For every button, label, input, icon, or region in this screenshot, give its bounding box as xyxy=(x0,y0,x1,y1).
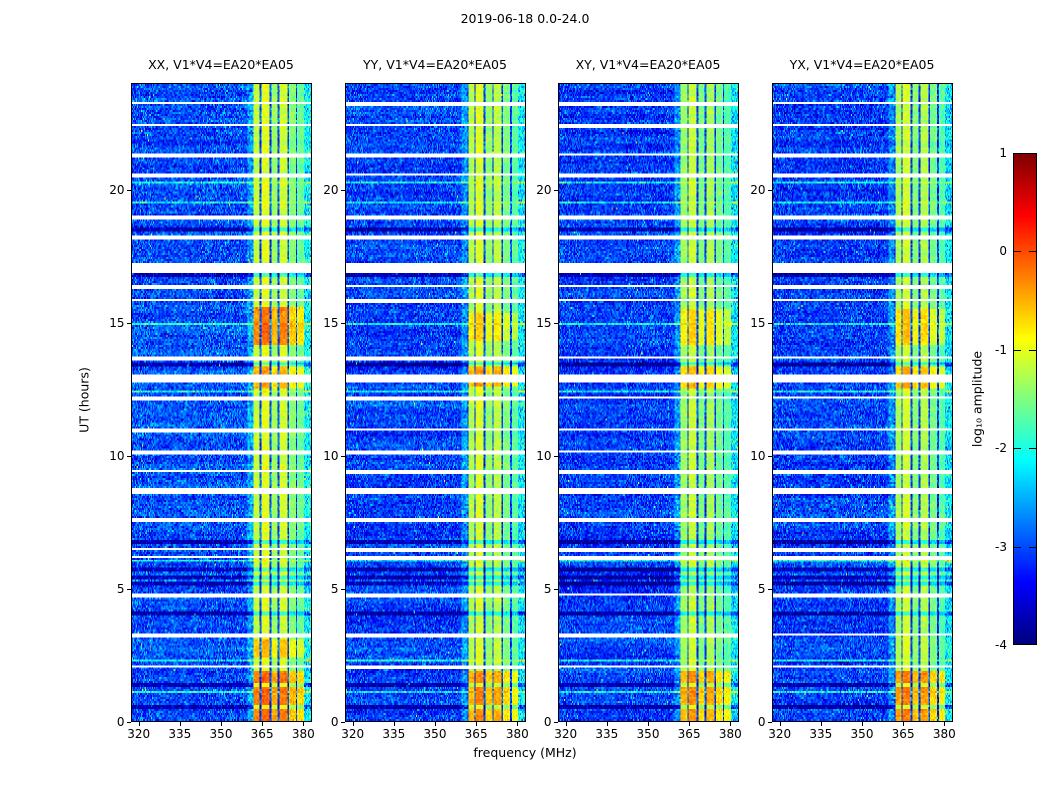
y-axis-tick-label: 0 xyxy=(528,715,552,729)
y-axis-label: UT (hours) xyxy=(77,367,92,433)
spectrogram-panel-xx[interactable] xyxy=(131,83,312,722)
x-axis-tick-mark xyxy=(821,722,822,726)
x-axis-tick-label: 380 xyxy=(506,727,529,741)
y-axis-tick-label: 15 xyxy=(742,316,766,330)
y-axis-tick-mark xyxy=(341,589,345,590)
y-axis-tick-label: 20 xyxy=(101,183,125,197)
x-axis-tick-mark xyxy=(780,722,781,726)
colorbar-tick-label: 1 xyxy=(985,146,1007,160)
y-axis-tick-mark xyxy=(768,323,772,324)
colorbar-tick-mark xyxy=(1013,251,1021,252)
y-axis-tick-label: 20 xyxy=(315,183,339,197)
colorbar-gradient xyxy=(1014,154,1036,644)
y-axis-tick-mark xyxy=(554,589,558,590)
x-axis-tick-mark xyxy=(566,722,567,726)
x-axis-tick-mark xyxy=(139,722,140,726)
x-axis-tick-mark xyxy=(476,722,477,726)
x-axis-tick-mark xyxy=(517,722,518,726)
y-axis-tick-label: 15 xyxy=(101,316,125,330)
x-axis-tick-mark xyxy=(394,722,395,726)
y-axis-tick-mark xyxy=(341,323,345,324)
x-axis-tick-label: 380 xyxy=(292,727,315,741)
y-axis-tick-mark xyxy=(554,456,558,457)
x-axis-tick-mark xyxy=(903,722,904,726)
colorbar-tick-mark xyxy=(1029,350,1037,351)
y-axis-tick-label: 5 xyxy=(742,582,766,596)
figure-canvas: 2019-06-18 0.0-24.0 UT (hours) frequency… xyxy=(0,0,1050,800)
colorbar-tick-label: 0 xyxy=(985,244,1007,258)
x-axis-tick-label: 320 xyxy=(554,727,577,741)
x-axis-tick-label: 320 xyxy=(341,727,364,741)
x-axis-tick-mark xyxy=(303,722,304,726)
spectrogram-panel-xy[interactable] xyxy=(558,83,739,722)
y-axis-tick-mark xyxy=(341,722,345,723)
y-axis-tick-label: 15 xyxy=(315,316,339,330)
x-axis-tick-label: 335 xyxy=(809,727,832,741)
colorbar-tick-label: -4 xyxy=(985,638,1007,652)
colorbar xyxy=(1013,153,1037,645)
colorbar-tick-label: -3 xyxy=(985,540,1007,554)
y-axis-tick-mark xyxy=(127,722,131,723)
x-axis-tick-mark xyxy=(862,722,863,726)
x-axis-tick-label: 350 xyxy=(851,727,874,741)
x-axis-tick-label: 320 xyxy=(127,727,150,741)
x-axis-tick-mark xyxy=(730,722,731,726)
figure-suptitle: 2019-06-18 0.0-24.0 xyxy=(0,11,1050,26)
y-axis-tick-mark xyxy=(768,589,772,590)
y-axis-tick-label: 0 xyxy=(101,715,125,729)
x-axis-tick-label: 335 xyxy=(168,727,191,741)
y-axis-tick-label: 20 xyxy=(742,183,766,197)
panel-title-xy: XY, V1*V4=EA20*EA05 xyxy=(558,57,739,72)
y-axis-tick-mark xyxy=(768,190,772,191)
x-axis-tick-label: 380 xyxy=(933,727,956,741)
y-axis-tick-label: 10 xyxy=(742,449,766,463)
y-axis-tick-label: 5 xyxy=(528,582,552,596)
panel-title-yx: YX, V1*V4=EA20*EA05 xyxy=(772,57,953,72)
x-axis-tick-mark xyxy=(689,722,690,726)
y-axis-tick-label: 10 xyxy=(101,449,125,463)
y-axis-tick-mark xyxy=(341,456,345,457)
x-axis-tick-label: 365 xyxy=(465,727,488,741)
y-axis-tick-mark xyxy=(127,589,131,590)
spectrogram-panel-yy[interactable] xyxy=(345,83,526,722)
colorbar-tick-mark xyxy=(1013,350,1021,351)
colorbar-tick-mark xyxy=(1013,448,1021,449)
panel-title-yy: YY, V1*V4=EA20*EA05 xyxy=(345,57,526,72)
y-axis-tick-label: 10 xyxy=(315,449,339,463)
x-axis-tick-mark xyxy=(262,722,263,726)
x-axis-tick-label: 350 xyxy=(637,727,660,741)
x-axis-tick-mark xyxy=(648,722,649,726)
x-axis-tick-mark xyxy=(353,722,354,726)
colorbar-tick-label: -2 xyxy=(985,441,1007,455)
colorbar-tick-mark xyxy=(1013,547,1021,548)
y-axis-tick-mark xyxy=(554,190,558,191)
x-axis-tick-mark xyxy=(221,722,222,726)
x-axis-tick-label: 335 xyxy=(382,727,405,741)
y-axis-tick-label: 0 xyxy=(742,715,766,729)
y-axis-tick-label: 20 xyxy=(528,183,552,197)
colorbar-tick-mark xyxy=(1029,547,1037,548)
x-axis-tick-label: 365 xyxy=(251,727,274,741)
y-axis-tick-mark xyxy=(554,722,558,723)
y-axis-tick-label: 5 xyxy=(101,582,125,596)
colorbar-label: log₁₀ amplitude xyxy=(970,351,985,447)
y-axis-tick-mark xyxy=(768,456,772,457)
x-axis-tick-mark xyxy=(180,722,181,726)
colorbar-tick-mark xyxy=(1029,251,1037,252)
y-axis-tick-label: 5 xyxy=(315,582,339,596)
x-axis-tick-label: 365 xyxy=(678,727,701,741)
y-axis-tick-mark xyxy=(127,323,131,324)
panel-title-xx: XX, V1*V4=EA20*EA05 xyxy=(131,57,312,72)
spectrogram-image xyxy=(559,84,738,721)
y-axis-tick-mark xyxy=(127,190,131,191)
x-axis-tick-label: 380 xyxy=(719,727,742,741)
spectrogram-panel-yx[interactable] xyxy=(772,83,953,722)
colorbar-tick-label: -1 xyxy=(985,343,1007,357)
y-axis-tick-mark xyxy=(341,190,345,191)
x-axis-tick-label: 350 xyxy=(424,727,447,741)
x-axis-tick-mark xyxy=(435,722,436,726)
y-axis-tick-label: 15 xyxy=(528,316,552,330)
y-axis-tick-mark xyxy=(768,722,772,723)
x-axis-tick-mark xyxy=(944,722,945,726)
x-axis-tick-label: 350 xyxy=(210,727,233,741)
spectrogram-image xyxy=(346,84,525,721)
y-axis-tick-label: 10 xyxy=(528,449,552,463)
spectrogram-image xyxy=(773,84,952,721)
y-axis-tick-mark xyxy=(554,323,558,324)
colorbar-tick-mark xyxy=(1029,448,1037,449)
x-axis-label: frequency (MHz) xyxy=(0,745,1050,760)
x-axis-tick-mark xyxy=(607,722,608,726)
y-axis-tick-mark xyxy=(127,456,131,457)
x-axis-tick-label: 320 xyxy=(768,727,791,741)
x-axis-tick-label: 335 xyxy=(595,727,618,741)
y-axis-tick-label: 0 xyxy=(315,715,339,729)
spectrogram-image xyxy=(132,84,311,721)
x-axis-tick-label: 365 xyxy=(892,727,915,741)
